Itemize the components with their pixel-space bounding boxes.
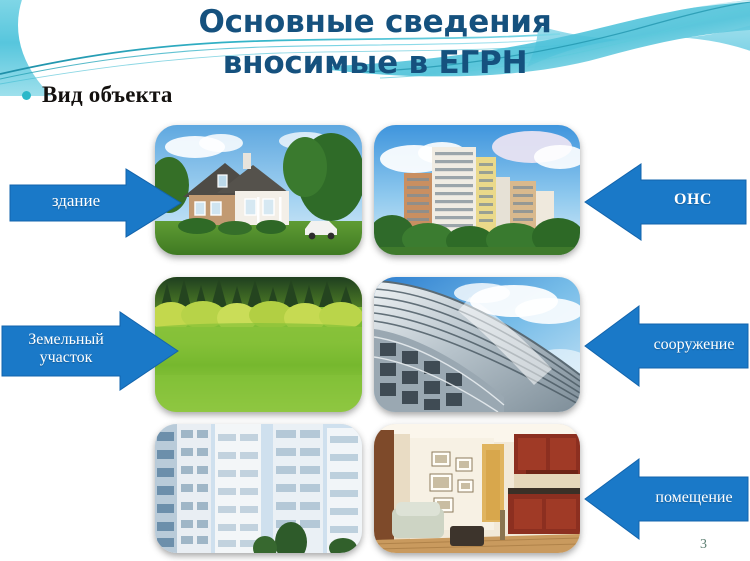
photo-modern-structure [374,277,580,412]
photo-apartment-blocks [374,125,580,255]
arrow-left-zdanie[interactable]: здание [8,167,183,239]
bullet-item-object-type: Вид объекта [22,82,173,108]
arrow-left-zemelny-uchastok[interactable]: Земельный участок [0,310,180,392]
photo-land-plot [155,277,362,412]
bullet-dot-icon [22,91,31,100]
photo-apartment-interior [374,424,580,553]
photo-residential-towers [155,424,362,553]
arrow-right-ons[interactable]: ОНС [583,160,748,244]
page-title: Основные сведения вносимые в ЕГРН [0,2,750,84]
arrow-right-pomeshchenie[interactable]: помещение [583,455,750,543]
bullet-item-label: Вид объекта [42,82,173,108]
photo-cottage-house [155,125,362,255]
page-number: 3 [700,537,707,553]
slide: Основные сведения вносимые в ЕГРН Вид об… [0,0,750,561]
arrow-right-sooruzhenie[interactable]: сооружение [583,302,750,390]
